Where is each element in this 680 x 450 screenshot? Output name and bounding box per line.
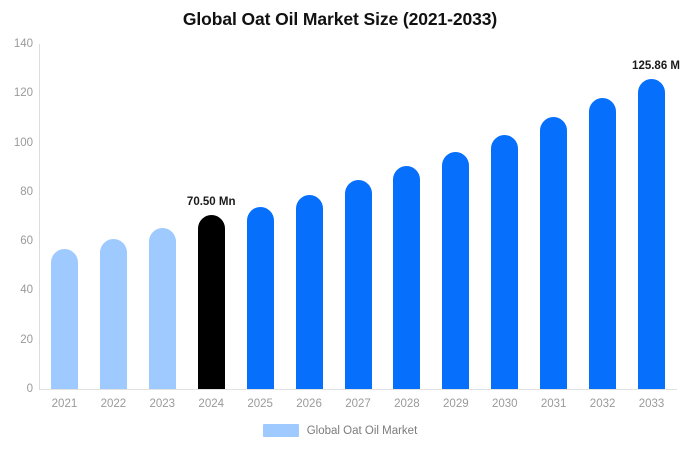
bar-2028[interactable]	[393, 166, 420, 389]
legend-label: Global Oat Oil Market	[307, 425, 418, 437]
bar-2022[interactable]	[100, 239, 127, 389]
bar-rect-2027[interactable]	[345, 180, 372, 389]
bar-rect-2032[interactable]	[589, 98, 616, 389]
bar-2021[interactable]	[51, 249, 78, 389]
bar-rect-2026[interactable]	[296, 195, 323, 389]
bar-2024[interactable]: 70.50 Mn	[198, 215, 225, 389]
bar-rect-2023[interactable]	[149, 228, 176, 389]
x-axis-tick-2032: 2032	[578, 398, 627, 410]
bar-rect-2025[interactable]	[247, 207, 274, 389]
legend-swatch	[263, 424, 299, 437]
x-axis-tick-2030: 2030	[480, 398, 529, 410]
bar-rect-2024[interactable]	[198, 215, 225, 389]
x-axis-tick-2029: 2029	[431, 398, 480, 410]
bar-2031[interactable]	[540, 117, 567, 389]
x-axis-tick-2028: 2028	[382, 398, 431, 410]
chart-container: Global Oat Oil Market Size (2021-2033) 0…	[0, 0, 680, 450]
bar-rect-2022[interactable]	[100, 239, 127, 389]
bar-rect-2029[interactable]	[442, 152, 469, 389]
x-axis-tick-2021: 2021	[40, 398, 89, 410]
x-axis-tick-2026: 2026	[285, 398, 334, 410]
x-axis-tick-2023: 2023	[138, 398, 187, 410]
x-axis-tick-2022: 2022	[89, 398, 138, 410]
x-axis-tick-2024: 2024	[187, 398, 236, 410]
bar-value-label-2024: 70.50 Mn	[187, 196, 236, 208]
bar-2026[interactable]	[296, 195, 323, 389]
bar-2029[interactable]	[442, 152, 469, 389]
bar-rect-2021[interactable]	[51, 249, 78, 389]
x-axis-tick-2027: 2027	[334, 398, 383, 410]
bar-rect-2033[interactable]	[638, 79, 665, 389]
bar-rect-2031[interactable]	[540, 117, 567, 389]
bar-2025[interactable]	[247, 207, 274, 389]
bar-2030[interactable]	[491, 135, 518, 389]
x-axis-tick-2033: 2033	[627, 398, 676, 410]
bar-rect-2030[interactable]	[491, 135, 518, 389]
bar-2033[interactable]: 125.86 Mn	[638, 79, 665, 389]
bar-series: 70.50 Mn125.86 Mn	[0, 0, 680, 450]
chart-legend: Global Oat Oil Market	[0, 424, 680, 437]
bar-2027[interactable]	[345, 180, 372, 389]
bar-2023[interactable]	[149, 228, 176, 389]
x-axis-tick-2025: 2025	[236, 398, 285, 410]
bar-2032[interactable]	[589, 98, 616, 389]
bar-rect-2028[interactable]	[393, 166, 420, 389]
bar-value-label-2033: 125.86 Mn	[632, 60, 680, 72]
x-axis-tick-2031: 2031	[529, 398, 578, 410]
